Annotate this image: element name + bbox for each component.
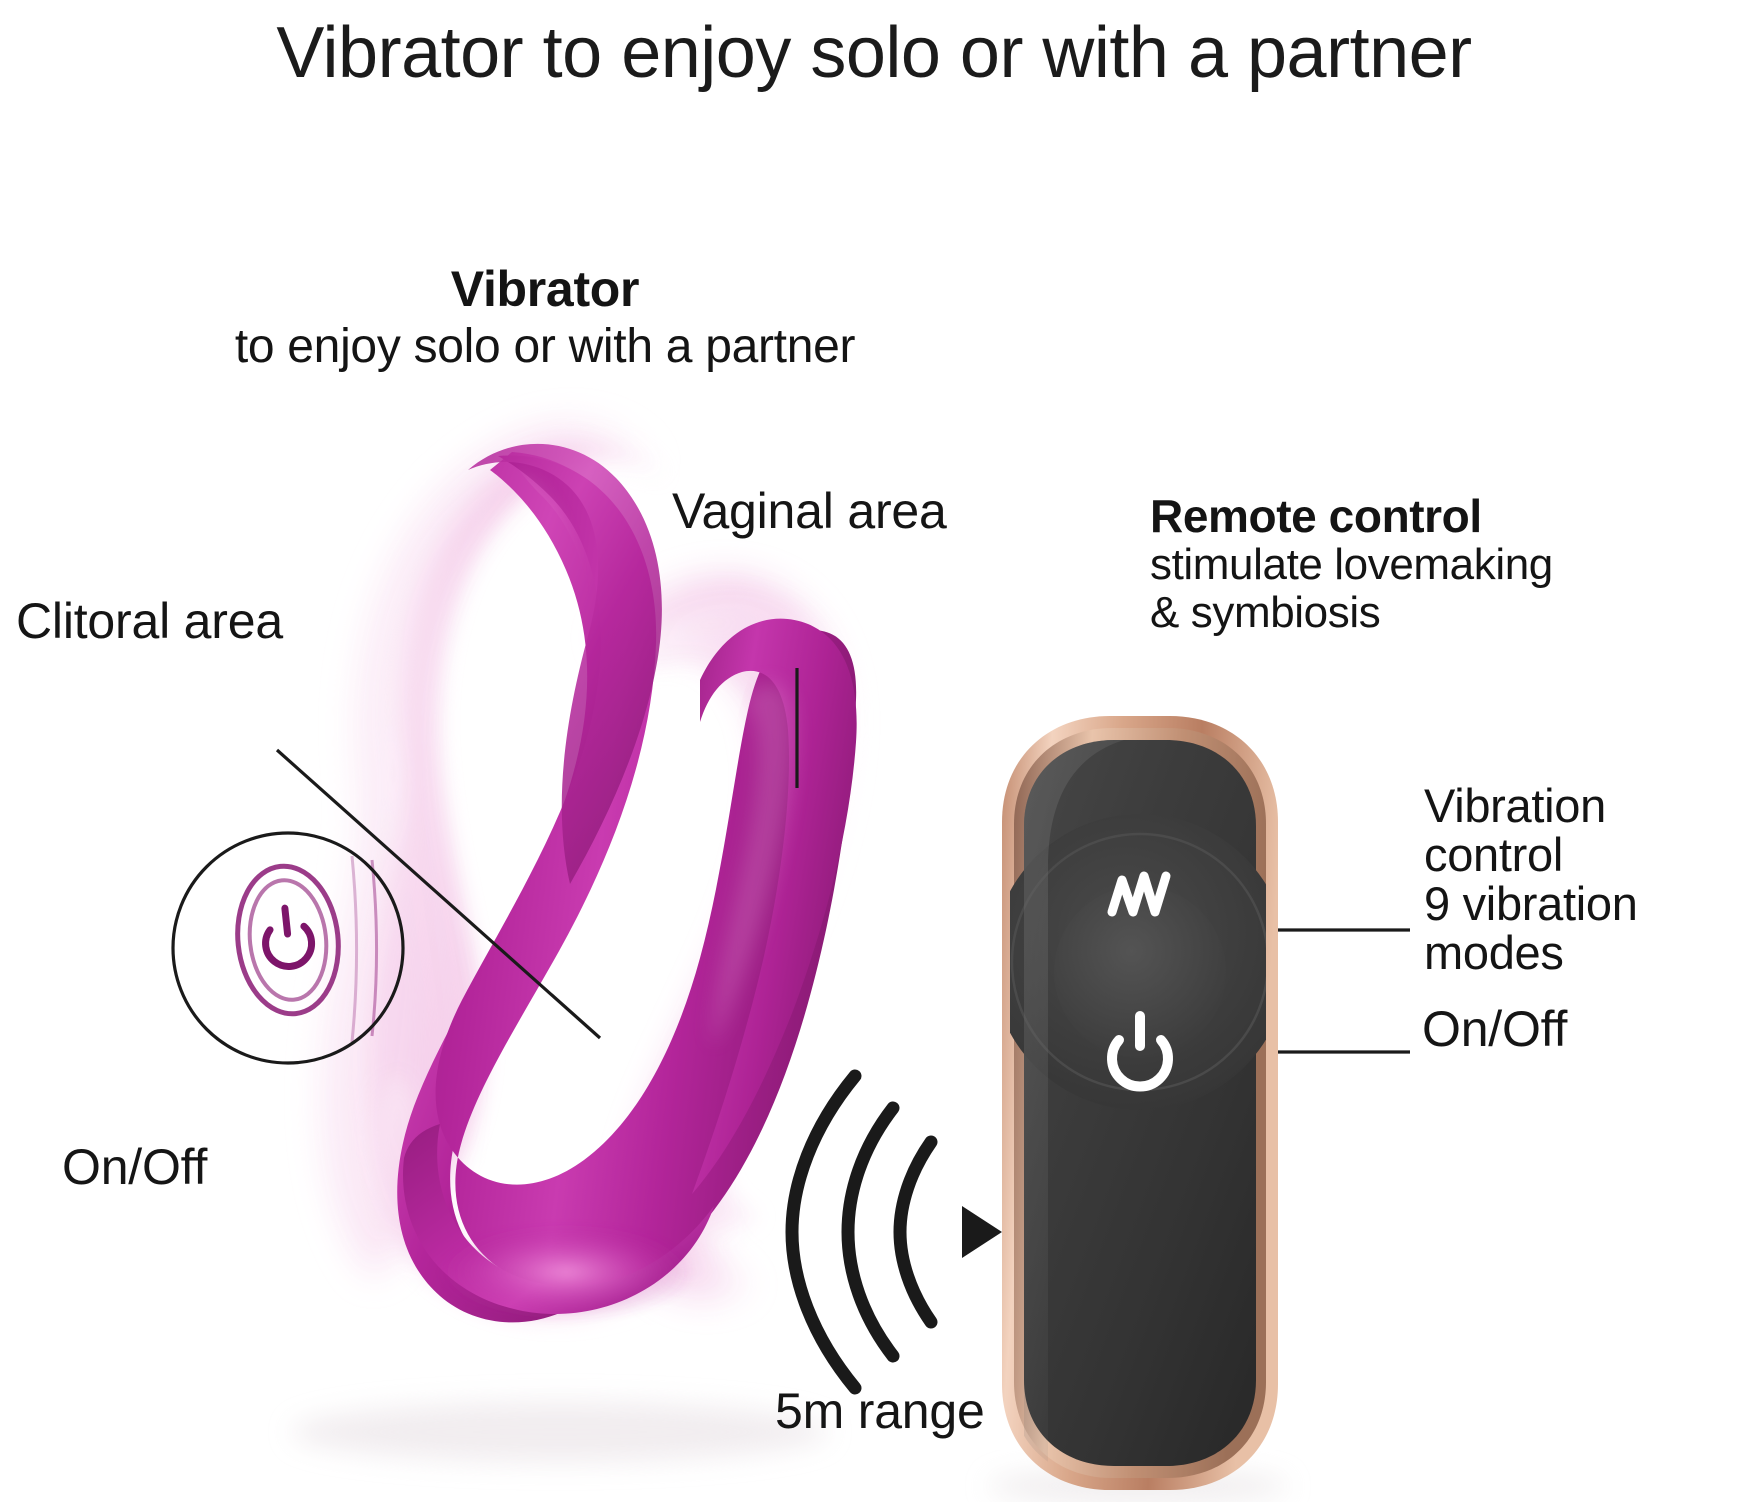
callout-onoff-left: On/Off — [62, 1138, 207, 1196]
product-shadow — [292, 1402, 828, 1462]
remote-rim-outer — [1002, 716, 1278, 1490]
power-icon[interactable] — [1112, 1016, 1168, 1087]
infographic-canvas: Vibrator to enjoy solo or with a partner… — [0, 0, 1748, 1502]
wireless-signal-icon — [792, 1076, 1002, 1388]
power-icon — [262, 906, 314, 969]
remote-control-body-line2: & symbiosis — [1150, 589, 1670, 637]
remote-shadow — [988, 1468, 1288, 1502]
vibration-control-line4: modes — [1424, 929, 1744, 978]
vibration-control-description: Vibration control 9 vibration modes — [1424, 782, 1744, 978]
remote-control-device — [992, 716, 1288, 1490]
vibration-control-line1: Vibration — [1424, 782, 1744, 831]
remote-control-disc — [992, 814, 1288, 1110]
product-subheading: Vibrator to enjoy solo or with a partner — [150, 262, 940, 374]
product-motion-blur — [321, 422, 851, 1321]
onoff-highlight-circle — [173, 833, 403, 1063]
remote-control-body-line1: stimulate lovemaking — [1150, 541, 1670, 589]
remote-rim-inner — [1014, 728, 1266, 1478]
remote-control-title: Remote control — [1150, 492, 1670, 541]
vibrator-power-button[interactable] — [231, 856, 377, 1042]
callout-clitoral-area: Clitoral area — [16, 592, 283, 650]
product-subheading-subtitle: to enjoy solo or with a partner — [150, 320, 940, 374]
vibration-control-line3: 9 vibration — [1424, 880, 1744, 929]
leader-line-clitoral — [277, 750, 600, 1038]
wave-icon[interactable] — [1112, 876, 1166, 912]
page-title: Vibrator to enjoy solo or with a partner — [0, 16, 1748, 92]
vibrator-body — [231, 444, 857, 1323]
remote-face — [1024, 740, 1256, 1466]
callout-vaginal-area: Vaginal area — [672, 482, 947, 540]
callout-leader-lines — [173, 668, 1410, 1063]
product-illustration — [0, 0, 1748, 1502]
product-subheading-title: Vibrator — [150, 262, 940, 316]
callout-range: 5m range — [775, 1382, 985, 1440]
callout-onoff-right: On/Off — [1422, 1000, 1567, 1058]
vibration-control-line2: control — [1424, 831, 1744, 880]
remote-control-description: Remote control stimulate lovemaking & sy… — [1150, 492, 1670, 636]
bend-glow — [438, 1224, 694, 1320]
